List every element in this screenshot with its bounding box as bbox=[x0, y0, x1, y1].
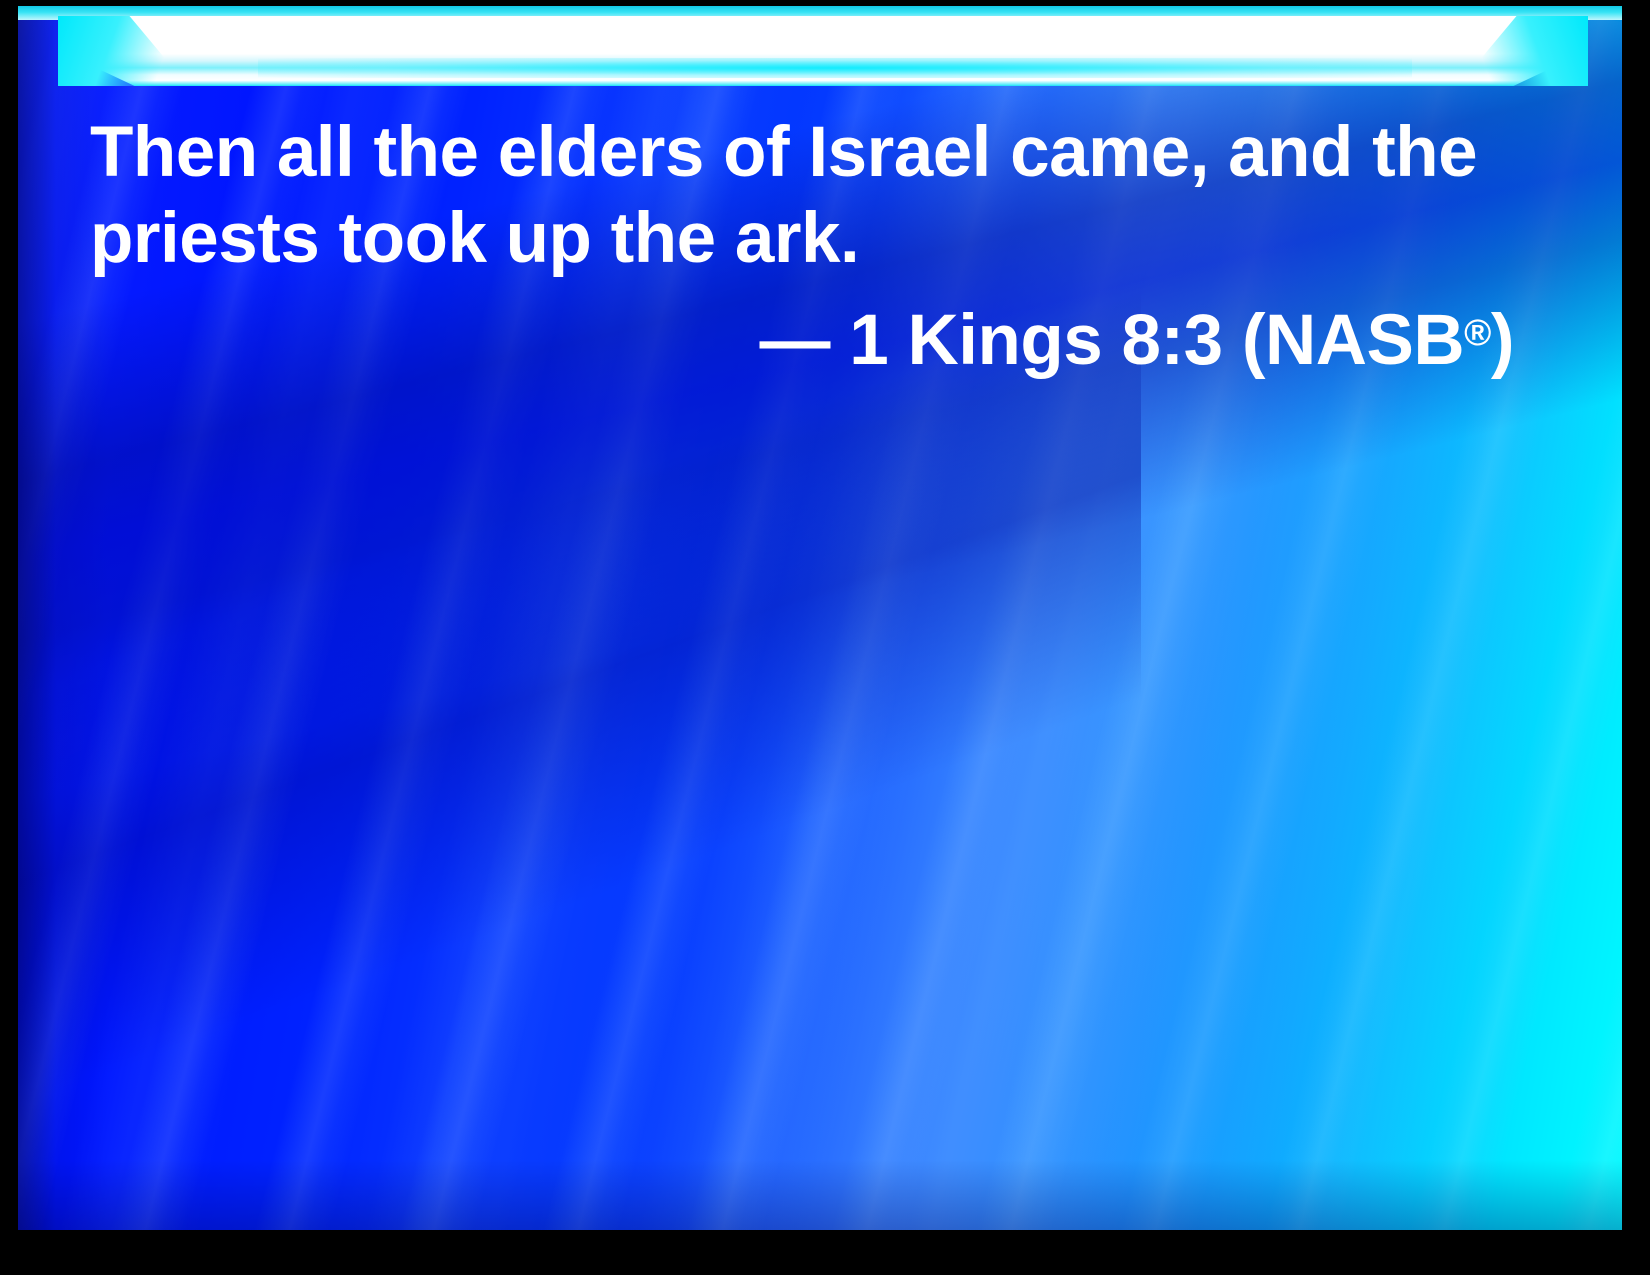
verse-reference-chapter-verse: 8:3 bbox=[1121, 301, 1222, 380]
frame-right-bar bbox=[1622, 0, 1650, 1275]
registered-trademark-icon: ® bbox=[1464, 312, 1491, 353]
verse-line-1: Then all the elders of Israel came, and … bbox=[90, 110, 1526, 196]
verse-reference-book: 1 Kings bbox=[849, 301, 1102, 380]
verse-reference: — 1 Kings 8:3 (NASB®) bbox=[90, 290, 1526, 384]
verse-reference-dash: — bbox=[760, 301, 831, 380]
frame-left-bar bbox=[0, 0, 17, 1275]
frame-bottom-bar bbox=[0, 1230, 1650, 1275]
slide-canvas: Then all the elders of Israel came, and … bbox=[18, 6, 1622, 1230]
verse-reference-translation-close: ) bbox=[1491, 301, 1514, 380]
frame-top-bar bbox=[0, 0, 1650, 6]
verse-text-block: Then all the elders of Israel came, and … bbox=[90, 110, 1526, 384]
verse-reference-translation-open: (NASB bbox=[1242, 301, 1464, 380]
verse-line-2: priests took up the ark. bbox=[90, 196, 1526, 282]
slide-root: Then all the elders of Israel came, and … bbox=[0, 0, 1650, 1275]
